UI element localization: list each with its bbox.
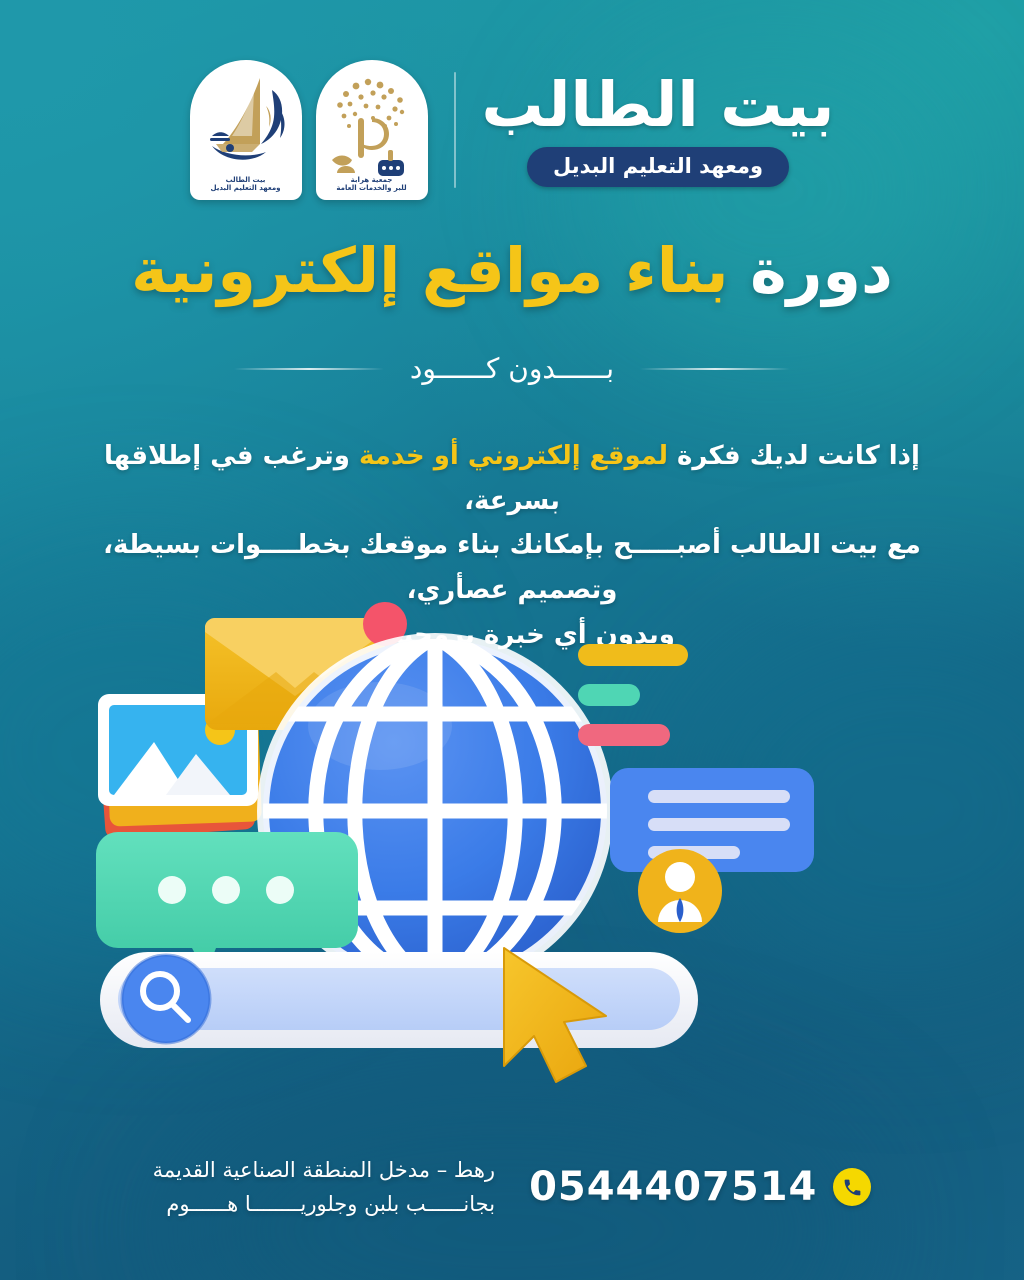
poster-footer: 0544407514 رهط – مدخل المنطقة الصناعية ا… [62,1153,962,1222]
address-block: رهط – مدخل المنطقة الصناعية القديمة بجان… [153,1153,495,1222]
phone-contact[interactable]: 0544407514 [529,1164,871,1210]
brand-name: بيت الطالب [482,73,835,136]
address-line-2: بجانــــــب بلبن وجلوريــــــــا هــــــ… [153,1187,495,1222]
address-line-1: رهط – مدخل المنطقة الصناعية القديمة [153,1153,495,1188]
user-avatar [638,849,722,933]
magnifier-icon [122,955,210,1043]
title-lead-word: دورة [750,234,893,307]
brand-block: بيت الطالب ومعهد التعليم البديل [482,73,835,186]
color-bars [578,644,688,746]
logo-row: جمعية هرابة للبر والخدمات العامة [190,60,428,200]
logo-caption-line2: ومعهد التعليم البديل [190,184,302,193]
header-divider [454,72,456,188]
body-line1-highlight: لموقع إلكتروني أو خدمة [359,441,668,471]
logo-caption-line1: جمعية هرابة [316,176,428,185]
title-block: دورة بناء مواقع إلكترونية [0,236,1024,305]
logo-caption-line1: بيت الطالب [190,176,302,185]
phone-number: 0544407514 [529,1164,817,1210]
body-line2: مع بيت الطالب أصبـــــح بإمكانك بناء موق… [103,530,921,605]
subtitle-rule-right [640,368,790,370]
brand-subtitle-pill: ومعهد التعليم البديل [527,147,789,187]
logo-caption: جمعية هرابة للبر والخدمات العامة [316,176,428,194]
logo-caption-line2: للبر والخدمات العامة [316,184,428,193]
student-house-logo: بيت الطالب ومعهد التعليم البديل [190,60,302,200]
poster-canvas: بيت الطالب ومعهد التعليم البديل [0,0,1024,1280]
poster-header: بيت الطالب ومعهد التعليم البديل [0,46,1024,214]
page-title: دورة بناء مواقع إلكترونية [0,236,1024,305]
phone-icon [833,1168,871,1206]
website-builder-illustration [80,596,860,1096]
subtitle-row: بــــــدون كــــــود [0,352,1024,385]
logo-caption: بيت الطالب ومعهد التعليم البديل [190,176,302,194]
title-rest: بناء مواقع إلكترونية [131,234,728,307]
subtitle: بــــــدون كــــــود [410,352,614,385]
subtitle-rule-left [234,368,384,370]
search-bar [100,952,698,1048]
body-line1-part-a: إذا كانت لديك فكرة [668,441,920,471]
harabah-association-logo: جمعية هرابة للبر والخدمات العامة [316,60,428,200]
